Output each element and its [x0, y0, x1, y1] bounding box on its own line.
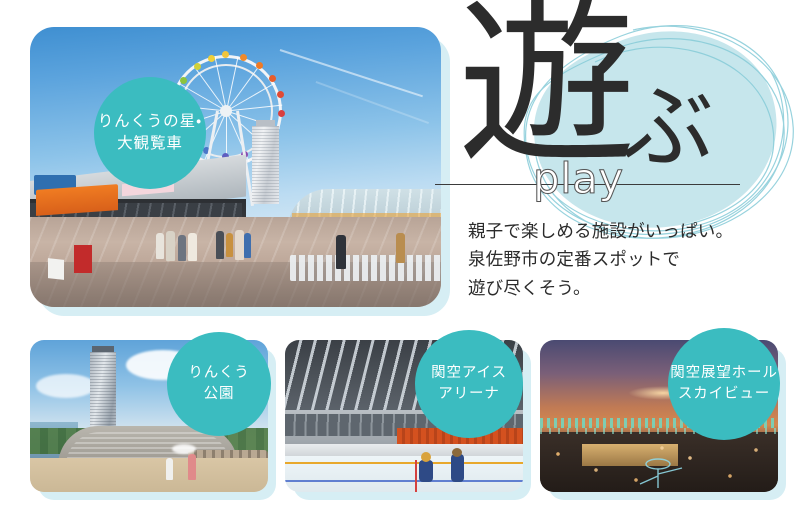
heading-romaji: play — [533, 158, 624, 200]
thumbnail-badge-rinku-park[interactable]: りんくう 公園 — [167, 332, 271, 436]
lede-line-2: 泉佐野市の定番スポットで — [468, 246, 798, 274]
lede-line-3: 遊び尽くそう。 — [468, 275, 798, 303]
thumbnail-badge-line-1: 関空アイス — [431, 363, 507, 384]
heading-okurigana: ぶ — [622, 82, 714, 174]
thumbnail-row: りんくう 公園 — [0, 340, 800, 505]
hero-image[interactable]: りんくうの星・ 大観覧車 — [30, 27, 441, 307]
play-section-banner: りんくうの星・ 大観覧車 遊 ぶ play 親子で楽しめる施設がいっぱい。 泉佐… — [0, 0, 800, 515]
hero-badge-line-2: 大観覧車 — [117, 133, 183, 155]
lede-text: 親子で楽しめる施設がいっぱい。 泉佐野市の定番スポットで 遊び尽くそう。 — [468, 218, 798, 303]
thumbnail-badge-line-1: りんくう — [188, 363, 249, 384]
hero-photo-artwork — [30, 27, 441, 307]
thumbnail-badge-line-1: 関空展望ホール — [670, 363, 778, 384]
thumbnail-badge-sky-view[interactable]: 関空展望ホール スカイビュー — [668, 328, 780, 440]
thumbnail-badge-line-2: アリーナ — [438, 384, 499, 405]
thumbnail-kanku-ice-arena[interactable]: 関空アイス アリーナ — [285, 340, 523, 495]
thumbnail-badge-line-2: 公園 — [204, 384, 235, 405]
lede-line-1: 親子で楽しめる施設がいっぱい。 — [468, 218, 798, 246]
heading-block: 遊 ぶ play 親子で楽しめる施設がいっぱい。 泉佐野市の定番スポットで 遊び… — [440, 0, 800, 330]
hero-badge[interactable]: りんくうの星・ 大観覧車 — [94, 77, 206, 189]
thumbnail-badge-ice-arena[interactable]: 関空アイス アリーナ — [415, 330, 523, 438]
thumbnail-badge-line-2: スカイビュー — [678, 384, 770, 405]
heading-kanji: 遊 — [458, 0, 636, 174]
thumbnail-kanku-sky-view[interactable]: 関空展望ホール スカイビュー — [540, 340, 778, 495]
hero-badge-line-1: りんくうの星・ — [98, 111, 202, 133]
thumbnail-rinku-park[interactable]: りんくう 公園 — [30, 340, 268, 495]
